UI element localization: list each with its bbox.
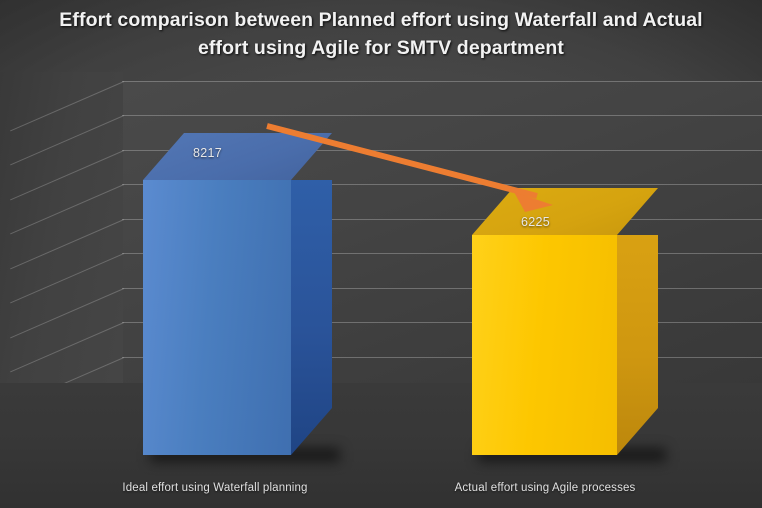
bar-agile[interactable] <box>472 235 617 455</box>
bar-value-waterfall: 8217 <box>193 146 222 160</box>
gridline-horizontal <box>122 81 762 82</box>
bar-front-face-agile <box>472 235 617 455</box>
bar-side-face-waterfall <box>291 180 332 455</box>
bar-waterfall[interactable] <box>143 180 291 455</box>
bar-front-face-waterfall <box>143 180 291 455</box>
gridline-horizontal <box>122 115 762 116</box>
category-label-agile: Actual effort using Agile processes <box>395 482 695 494</box>
chart-container: 8217 6225 Effort comparison between Plan… <box>0 0 762 508</box>
chart-title: Effort comparison between Planned effort… <box>16 6 746 62</box>
bar-value-agile: 6225 <box>521 215 550 229</box>
category-label-waterfall: Ideal effort using Waterfall planning <box>65 482 365 494</box>
